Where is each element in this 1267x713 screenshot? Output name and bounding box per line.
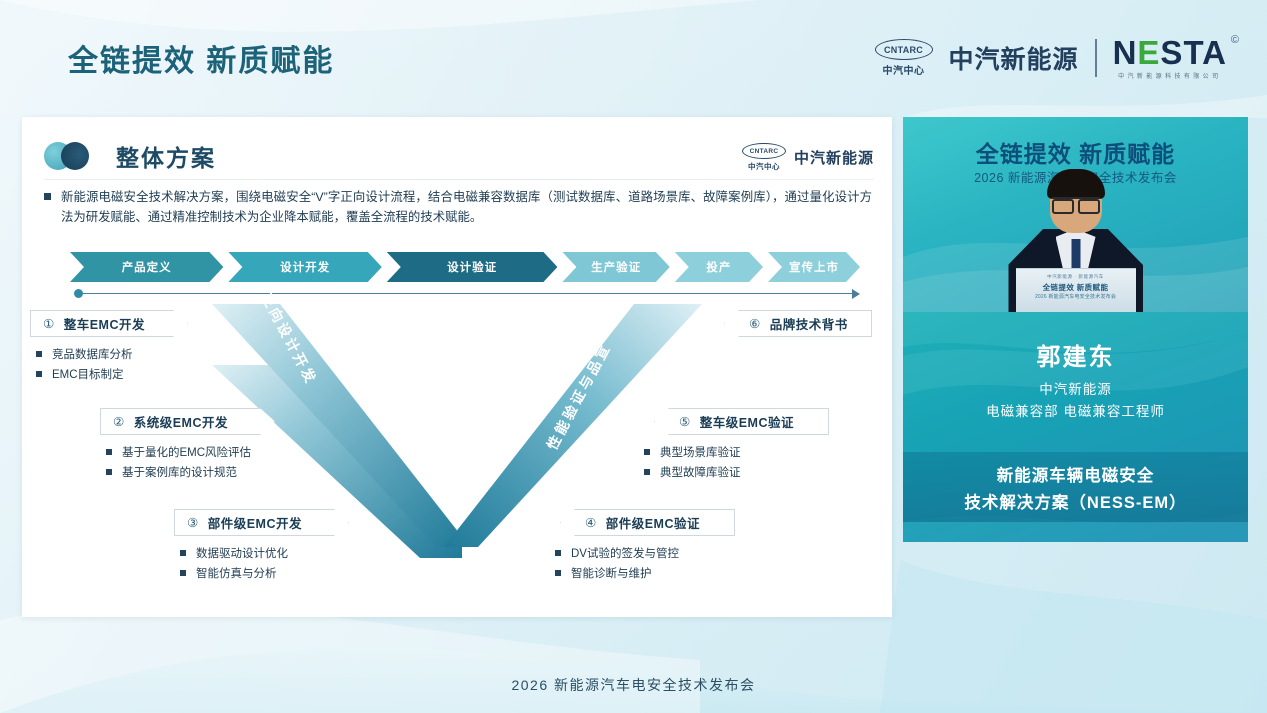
bullet-square-icon <box>180 550 186 556</box>
stage-4-title: 部件级EMC验证 <box>606 513 700 532</box>
video-stage-backdrop: 全链提效 新质赋能 2026 新能源汽车电安全技术发布会 中汽新能源 · 新能源… <box>903 117 1248 312</box>
stage-3-bullet-2: 智能仿真与分析 <box>196 564 277 584</box>
topic-banner: 新能源车辆电磁安全 技术解决方案（NESS-EM） <box>903 452 1248 522</box>
brand-name-text: 中汽新能源 <box>949 40 1079 76</box>
stage-6-number: ⑥ <box>749 316 761 331</box>
stage-6-callout[interactable]: ⑥ 品牌技术背书 <box>724 310 872 337</box>
list-item: 竞品数据库分析 <box>36 345 133 365</box>
nesta-letter-s: S <box>1160 34 1183 71</box>
stage-5-bullet-1: 典型场景库验证 <box>660 443 741 463</box>
stage-3-callout[interactable]: ③ 部件级EMC开发 <box>174 509 349 536</box>
flow-step-design-verification[interactable]: 设计验证 <box>387 252 558 282</box>
slide-divider <box>44 179 874 180</box>
stage-4-callout[interactable]: ④ 部件级EMC验证 <box>560 509 735 536</box>
slide-brand-name: 中汽新能源 <box>794 147 874 168</box>
podium-logo-text: 中汽新能源 · 新能源汽车 <box>1016 274 1136 280</box>
timeline-axis <box>74 289 860 299</box>
flow-step-design-development[interactable]: 设计开发 <box>228 252 381 282</box>
stage-1-callout[interactable]: ① 整车EMC开发 <box>30 310 188 337</box>
bullet-square-icon <box>555 570 561 576</box>
presentation-slide: 整体方案 CNTARC 中汽中心 中汽新能源 新能源电磁安全技术解决方案，围绕电… <box>22 117 892 617</box>
podium: 中汽新能源 · 新能源汽车 全链提效 新质赋能 2026 新能源汽车电安全技术发… <box>1016 268 1136 312</box>
nesta-letter-a: A <box>1202 34 1227 71</box>
slide-title: 整体方案 <box>116 139 216 173</box>
speaker-name: 郭建东 <box>903 337 1248 372</box>
stage-3-number: ③ <box>187 515 199 530</box>
stage-2-bullet-2: 基于案例库的设计规范 <box>122 463 237 483</box>
list-item: 基于案例库的设计规范 <box>106 463 251 483</box>
stage-1-bullet-2: EMC目标制定 <box>52 365 124 385</box>
stage-4-bullet-1: DV试验的签发与管控 <box>571 544 679 564</box>
flow-step-production-verification[interactable]: 生产验证 <box>562 252 669 282</box>
stage-title-text: 全链提效 新质赋能 <box>903 135 1248 169</box>
list-item: 基于量化的EMC风险评估 <box>106 443 251 463</box>
list-item: 智能诊断与维护 <box>555 564 679 584</box>
nesta-letter-e: E <box>1137 34 1160 71</box>
flow-step-launch[interactable]: 宣传上市 <box>768 252 860 282</box>
slide-cntarc-mark-text: CNTARC <box>742 143 786 159</box>
bullet-square-icon <box>106 449 112 455</box>
bullet-square-icon <box>644 449 650 455</box>
stage-1-bullets: 竞品数据库分析 EMC目标制定 <box>36 345 133 385</box>
slide-header: 整体方案 <box>44 139 216 173</box>
slide-cntarc-logo: CNTARC 中汽中心 <box>742 143 786 172</box>
stage-4-bullet-2: 智能诊断与维护 <box>571 564 652 584</box>
stage-5-title: 整车级EMC验证 <box>700 412 794 431</box>
stage-1-number: ① <box>43 316 55 331</box>
stage-1-title: 整车EMC开发 <box>64 314 145 333</box>
stage-5-bullets: 典型场景库验证 典型故障库验证 <box>644 443 741 483</box>
bullet-square-icon <box>180 570 186 576</box>
list-item: 智能仿真与分析 <box>180 564 288 584</box>
stage-2-bullet-1: 基于量化的EMC风险评估 <box>122 443 251 463</box>
page-title: 全链提效 新质赋能 <box>68 36 334 80</box>
flow-step-produce-definition[interactable]: 产品定义 <box>70 252 223 282</box>
bullet-square-icon <box>106 469 112 475</box>
timeline-start-dot <box>74 289 83 298</box>
stage-4-bullets: DV试验的签发与管控 智能诊断与维护 <box>555 544 679 584</box>
speaker-role: 电磁兼容部 电磁兼容工程师 <box>903 400 1248 420</box>
cntarc-logo: CNTARC 中汽中心 <box>875 39 933 77</box>
cntarc-mark-text: CNTARC <box>875 39 933 60</box>
list-item: 典型场景库验证 <box>644 443 741 463</box>
topic-line-1: 新能源车辆电磁安全 <box>903 462 1248 486</box>
slide-body: 新能源电磁安全技术解决方案，围绕电磁安全“V”字正向设计流程，结合电磁兼容数据库… <box>44 187 872 228</box>
bullet-square-icon <box>555 550 561 556</box>
slide-corner-logo: CNTARC 中汽中心 中汽新能源 <box>742 143 874 172</box>
timeline-arrow-icon <box>852 289 860 299</box>
speaker-organization: 中汽新能源 <box>903 378 1248 398</box>
stage-2-callout[interactable]: ② 系统级EMC开发 <box>100 408 275 435</box>
stage-3-bullets: 数据驱动设计优化 智能仿真与分析 <box>180 544 288 584</box>
logo-divider <box>1095 39 1097 77</box>
bullet-square-icon <box>644 469 650 475</box>
nesta-wordmark: NESTA <box>1113 36 1227 69</box>
podium-line-2: 2026 新能源汽车电安全技术发布会 <box>1016 293 1136 300</box>
podium-line-1: 全链提效 新质赋能 <box>1016 282 1136 293</box>
stage-2-number: ② <box>113 414 125 429</box>
page-footer: 2026 新能源汽车电安全技术发布会 <box>0 675 1267 695</box>
stage-5-bullet-2: 典型故障库验证 <box>660 463 741 483</box>
bullet-square-icon <box>36 371 42 377</box>
page-header: 全链提效 新质赋能 CNTARC 中汽中心 中汽新能源 NESTA 中汽新能源科… <box>0 0 1267 98</box>
venn-circles-icon <box>44 141 102 171</box>
nesta-subtitle: 中汽新能源科技有限公司 <box>1118 71 1221 80</box>
bullet-square-icon <box>44 193 51 200</box>
flow-step-production[interactable]: 投产 <box>675 252 763 282</box>
process-flow: 产品定义 设计开发 设计验证 生产验证 投产 宣传上市 <box>70 252 860 282</box>
glasses-icon <box>1052 197 1100 209</box>
nesta-logo: NESTA 中汽新能源科技有限公司 © <box>1113 36 1227 80</box>
stage-5-number: ⑤ <box>679 414 691 429</box>
header-logo-group: CNTARC 中汽中心 中汽新能源 NESTA 中汽新能源科技有限公司 © <box>875 36 1227 80</box>
copyright-icon: © <box>1231 34 1239 46</box>
topic-line-2: 技术解决方案（NESS-EM） <box>903 489 1248 513</box>
slide-body-text: 新能源电磁安全技术解决方案，围绕电磁安全“V”字正向设计流程，结合电磁兼容数据库… <box>61 187 872 228</box>
venn-circle-dark <box>61 142 89 170</box>
stage-2-title: 系统级EMC开发 <box>134 412 228 431</box>
stage-3-title: 部件级EMC开发 <box>208 513 302 532</box>
stage-6-title: 品牌技术背书 <box>770 314 848 333</box>
stage-4-number: ④ <box>585 515 597 530</box>
slide-cntarc-sub-text: 中汽中心 <box>748 161 780 172</box>
list-item: 典型故障库验证 <box>644 463 741 483</box>
nesta-letter-n: N <box>1113 34 1138 71</box>
stage-5-callout[interactable]: ⑤ 整车级EMC验证 <box>654 408 829 435</box>
bullet-square-icon <box>36 351 42 357</box>
nesta-letter-t: T <box>1183 34 1202 71</box>
list-item: EMC目标制定 <box>36 365 133 385</box>
cntarc-sub-text: 中汽中心 <box>883 62 925 77</box>
timeline-line <box>78 293 852 294</box>
stage-3-bullet-1: 数据驱动设计优化 <box>196 544 288 564</box>
speaker-info-panel: 郭建东 中汽新能源 电磁兼容部 电磁兼容工程师 新能源车辆电磁安全 技术解决方案… <box>903 312 1248 542</box>
list-item: 数据驱动设计优化 <box>180 544 288 564</box>
speaker-video-panel[interactable]: 全链提效 新质赋能 2026 新能源汽车电安全技术发布会 中汽新能源 · 新能源… <box>903 117 1248 542</box>
stage-2-bullets: 基于量化的EMC风险评估 基于案例库的设计规范 <box>106 443 251 483</box>
stage-1-bullet-1: 竞品数据库分析 <box>52 345 133 365</box>
list-item: DV试验的签发与管控 <box>555 544 679 564</box>
